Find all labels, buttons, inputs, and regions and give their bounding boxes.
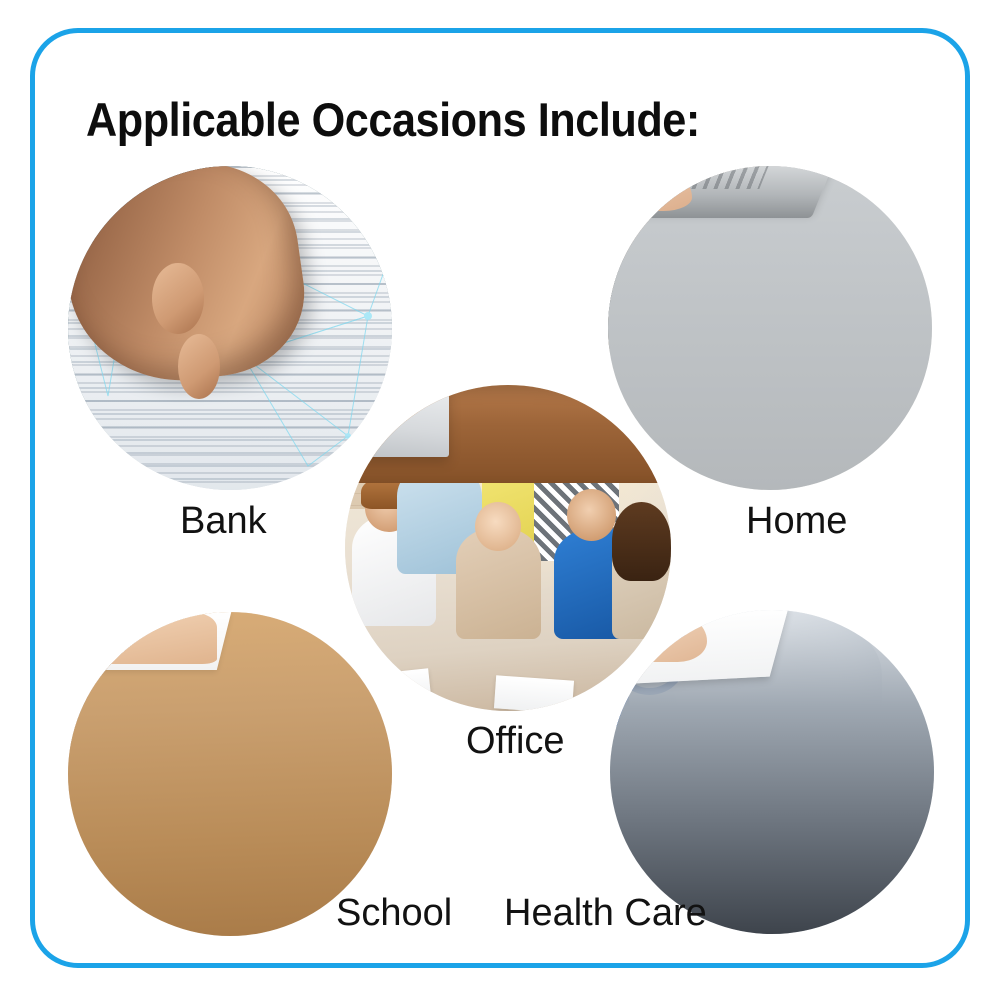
occasion-label-home: Home <box>746 500 847 543</box>
occasion-label-school: School <box>336 892 452 935</box>
office-person-blue-sweater-head <box>567 489 616 541</box>
office-document-right <box>494 676 574 711</box>
occasion-label-bank: Bank <box>180 500 267 543</box>
occasion-label-health-care: Health Care <box>504 892 707 935</box>
occasion-photo-health-care <box>610 610 934 934</box>
school-foam-letter-orange-2 <box>68 612 104 631</box>
bank-thumb <box>152 263 204 334</box>
occasion-photo-school <box>68 612 392 936</box>
office-person-center-head <box>475 502 521 551</box>
occasion-label-office: Office <box>466 720 565 763</box>
occasion-photo-bank <box>68 166 392 490</box>
office-person-right-hair <box>612 502 671 580</box>
page-title: Applicable Occasions Include: <box>86 92 700 147</box>
infographic-page: Applicable Occasions Include: <box>0 0 1000 1000</box>
